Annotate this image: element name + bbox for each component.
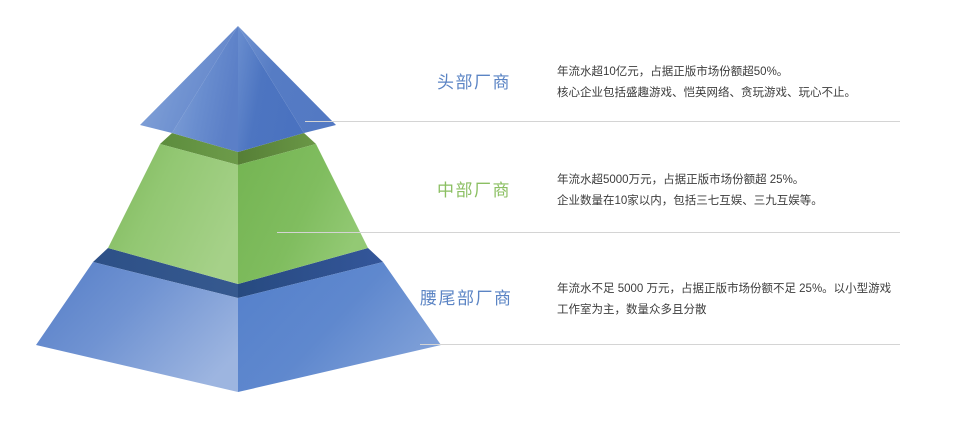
- tier-description-top-line-2: 核心企业包括盛趣游戏、恺英网络、贪玩游戏、玩心不止。: [557, 83, 856, 104]
- tier-description-top: 年流水超10亿元，占据正版市场份额超50%。 核心企业包括盛趣游戏、恺英网络、贪…: [557, 62, 856, 105]
- pyramid-diagram: 头部厂商 年流水超10亿元，占据正版市场份额超50%。 核心企业包括盛趣游戏、恺…: [0, 0, 960, 424]
- tier-description-bottom-line-2: 工作室为主，数量众多且分散: [557, 300, 891, 321]
- tier-label-bottom: 腰尾部厂商: [420, 290, 513, 307]
- tier-label-middle: 中部厂商: [437, 182, 511, 199]
- tier-description-top-line-1: 年流水超10亿元，占据正版市场份额超50%。: [557, 62, 856, 83]
- tier-description-bottom-line-1: 年流水不足 5000 万元，占据正版市场份额不足 25%。以小型游戏: [557, 279, 891, 300]
- tier-description-middle-line-1: 年流水超5000万元，占据正版市场份额超 25%。: [557, 170, 823, 191]
- tier-description-bottom: 年流水不足 5000 万元，占据正版市场份额不足 25%。以小型游戏 工作室为主…: [557, 279, 891, 322]
- tier-description-middle: 年流水超5000万元，占据正版市场份额超 25%。 企业数量在10家以内，包括三…: [557, 170, 823, 213]
- tier-label-top: 头部厂商: [437, 74, 511, 91]
- divider-line-middle: [277, 232, 900, 233]
- divider-line-bottom: [420, 344, 900, 345]
- tier-description-middle-line-2: 企业数量在10家以内，包括三七互娱、三九互娱等。: [557, 191, 823, 212]
- divider-line-top: [305, 121, 900, 122]
